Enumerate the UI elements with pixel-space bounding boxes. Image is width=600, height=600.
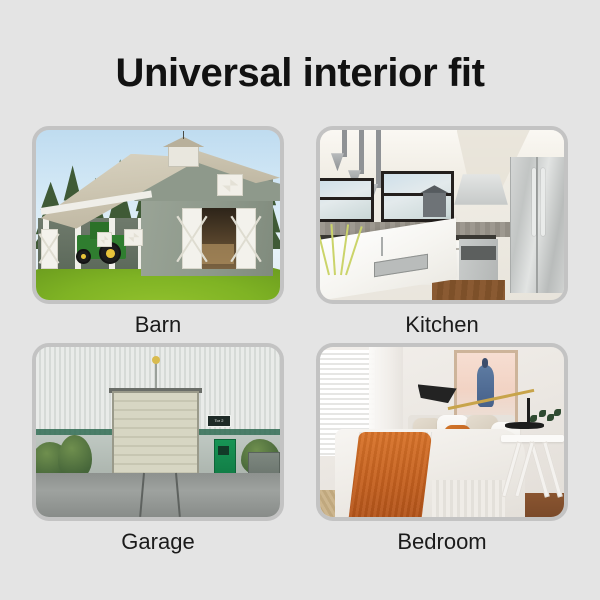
- decor-plant: [325, 224, 354, 275]
- scene-card-bedroom[interactable]: Bedroom: [316, 343, 568, 556]
- orange-throw-blanket: [349, 432, 433, 517]
- kitchen-photo: [320, 130, 564, 300]
- barn-photo: [36, 130, 280, 300]
- stainless-refrigerator: [510, 157, 564, 293]
- scene-card-kitchen[interactable]: Kitchen: [316, 126, 568, 339]
- gable-window: [217, 174, 244, 196]
- hardwood-floor: [432, 280, 505, 300]
- page-title: Universal interior fit: [0, 49, 600, 97]
- garage-image-frame[interactable]: Tor 2: [32, 343, 284, 521]
- tractor-wheel: [76, 249, 91, 264]
- scene-card-barn[interactable]: Barn: [32, 126, 284, 339]
- side-table: [501, 435, 564, 503]
- bedroom-photo: [320, 347, 564, 517]
- pendant-light: [342, 130, 347, 157]
- side-window: [124, 229, 144, 246]
- barn-door-left: [182, 208, 202, 269]
- stainless-range: [459, 239, 498, 285]
- card-caption-kitchen: Kitchen: [316, 311, 568, 339]
- range-hood: [454, 174, 508, 205]
- asphalt-apron: [36, 473, 280, 517]
- door-number-sign: Tor 2: [207, 415, 231, 427]
- card-caption-barn: Barn: [32, 311, 284, 339]
- product-feature-page: Universal interior fit: [0, 0, 600, 600]
- kitchen-image-frame[interactable]: [316, 126, 568, 304]
- decor-plant: [527, 398, 561, 425]
- kitchen-window-main: [381, 171, 454, 222]
- cupola: [168, 144, 200, 168]
- barn-door-right: [236, 208, 256, 269]
- bed-skirt: [432, 480, 505, 517]
- card-caption-garage: Garage: [32, 528, 284, 556]
- faucet: [381, 237, 383, 256]
- scene-card-garage[interactable]: Tor 2 Garage: [32, 343, 284, 556]
- garage-photo: Tor 2: [36, 347, 280, 517]
- wall-lamp-icon: [155, 361, 157, 392]
- bedroom-image-frame[interactable]: [316, 343, 568, 521]
- pendant-light: [359, 130, 364, 174]
- barn-image-frame[interactable]: [32, 126, 284, 304]
- scene-card-grid: Barn: [32, 126, 568, 546]
- kitchen-window-left: [320, 178, 374, 222]
- weathervane-icon: [183, 131, 184, 140]
- overhead-roll-up-door: [112, 391, 200, 479]
- shed-door: [41, 229, 58, 270]
- side-window: [97, 232, 112, 247]
- framed-artwork: [454, 350, 517, 421]
- card-caption-bedroom: Bedroom: [316, 528, 568, 556]
